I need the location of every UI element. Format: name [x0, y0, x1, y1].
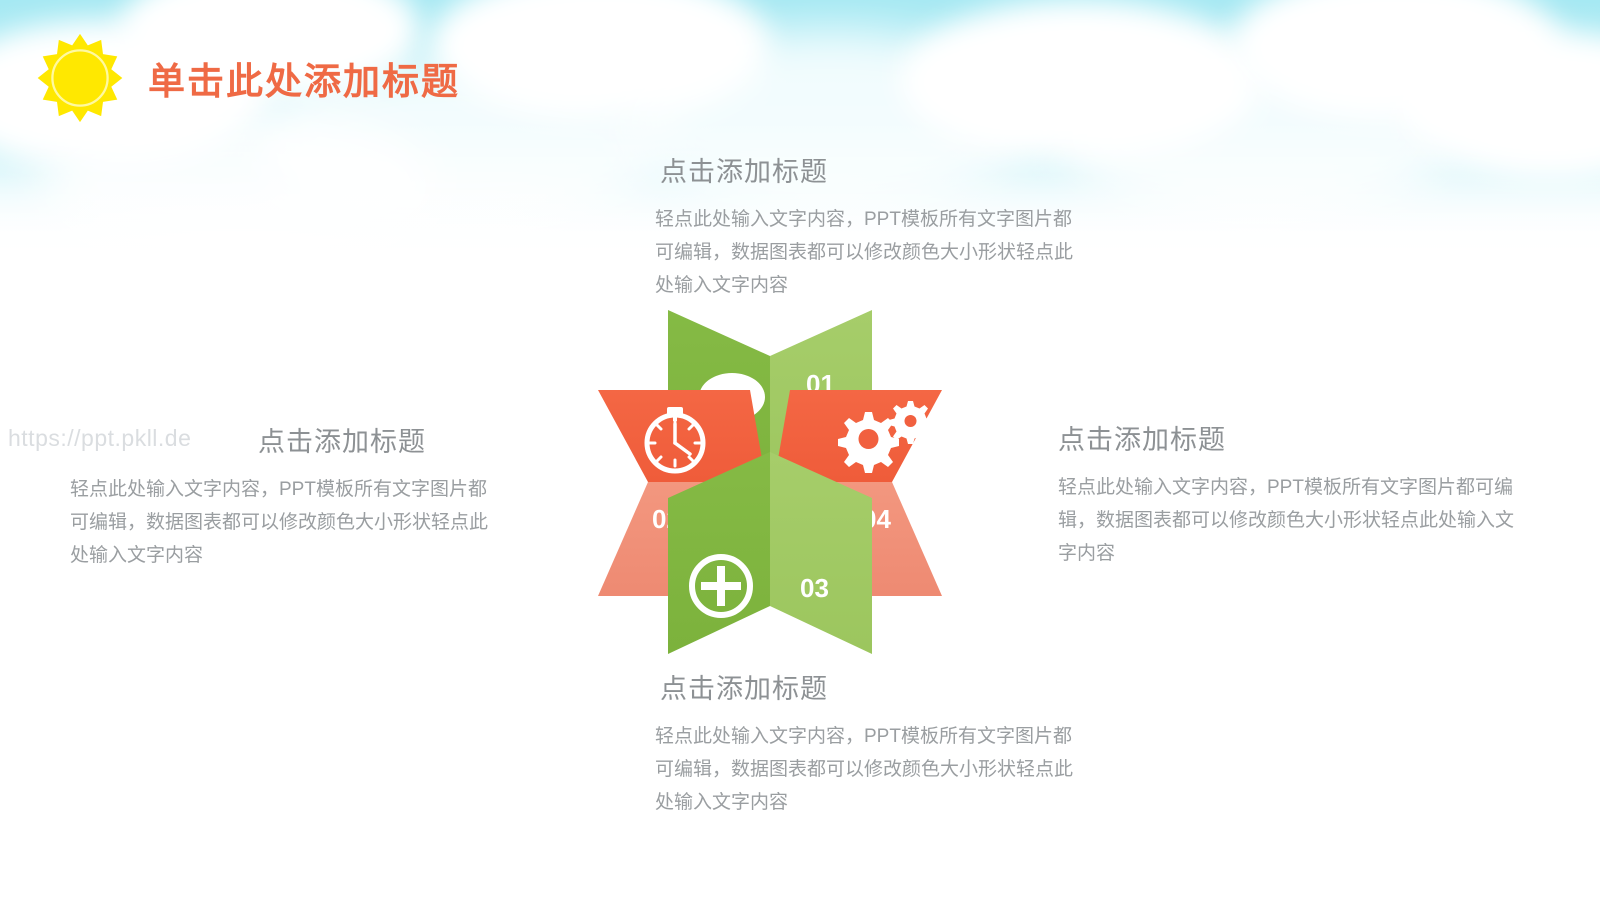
page-title: 单击此处添加标题 [148, 51, 460, 105]
slide-canvas: 单击此处添加标题 [0, 0, 1600, 900]
block-body-right: 轻点此处输入文字内容，PPT模板所有文字图片都可编辑，数据图表都可以修改颜色大小… [1058, 471, 1518, 570]
segment-number-03: 03 [800, 573, 829, 603]
block-title-bottom: 点击添加标题 [660, 667, 1085, 706]
text-block-top: 点击添加标题 轻点此处输入文字内容，PPT模板所有文字图片都可编辑，数据图表都可… [655, 150, 1085, 302]
sun-icon [34, 32, 126, 124]
slide-header: 单击此处添加标题 [34, 32, 460, 124]
block-title-top: 点击添加标题 [660, 150, 1085, 189]
text-block-right: 点击添加标题 轻点此处输入文字内容，PPT模板所有文字图片都可编辑，数据图表都可… [1058, 418, 1518, 570]
text-block-bottom: 点击添加标题 轻点此处输入文字内容，PPT模板所有文字图片都可编辑，数据图表都可… [655, 667, 1085, 819]
block-title-left: 点击添加标题 [258, 420, 500, 459]
block-body-left: 轻点此处输入文字内容，PPT模板所有文字图片都可编辑，数据图表都可以修改颜色大小… [70, 473, 500, 572]
block-body-top: 轻点此处输入文字内容，PPT模板所有文字图片都可编辑，数据图表都可以修改颜色大小… [655, 203, 1085, 302]
watermark-url: https://ppt.pkll.de [8, 425, 191, 452]
block-title-right: 点击添加标题 [1058, 418, 1518, 457]
pinwheel-diagram: 01 [560, 296, 980, 668]
block-body-bottom: 轻点此处输入文字内容，PPT模板所有文字图片都可编辑，数据图表都可以修改颜色大小… [655, 720, 1085, 819]
